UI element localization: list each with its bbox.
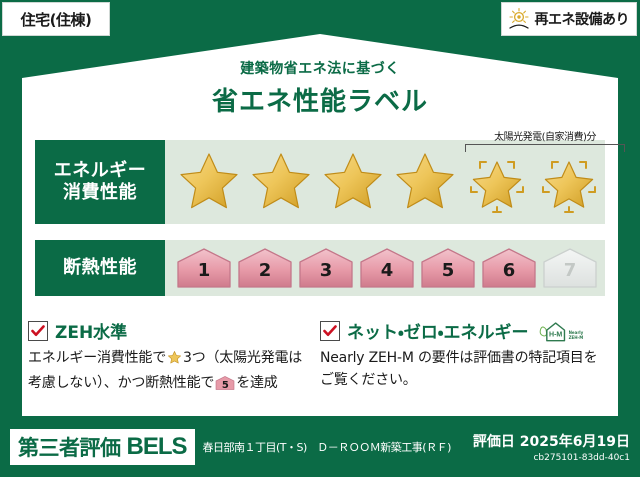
star-icon — [167, 353, 182, 369]
energy-star-solar — [535, 148, 603, 216]
zeh-standard-description: エネルギー消費性能で3つ（太陽光発電は考慮しない）、かつ断熱性能で5を達成 — [28, 348, 314, 394]
energy-star — [319, 148, 387, 216]
building-type-label: 住宅(住棟) — [21, 9, 92, 30]
insulation-grade-badge: 2 — [236, 246, 294, 290]
insulation-grade-badge: 3 — [297, 246, 355, 290]
insulation-grade-badge-inactive: 7 — [541, 246, 599, 290]
energy-star — [247, 148, 315, 216]
inline-badge-number: 5 — [215, 378, 235, 394]
insulation-grade-number: 3 — [297, 260, 355, 281]
insulation-grade-badge: 1 — [175, 246, 233, 290]
zeh-m-caption-line2: ZEH-M — [569, 335, 584, 340]
insulation-label-line1: 断熱性能 — [63, 257, 137, 280]
criteria-zeh-header: ZEH水準 — [28, 318, 314, 343]
net-zero-energy-description: Nearly ZEH-M の要件は評価書の特記項目をご覧ください。 — [320, 348, 606, 391]
energy-performance-row: エネルギー 消費性能 太陽光発電(自家消費)分 — [35, 140, 605, 224]
insulation-grade-badge: 4 — [358, 246, 416, 290]
energy-performance-row-content: 太陽光発電(自家消費)分 — [165, 140, 605, 224]
insulation-grade-scale: 1 2 3 4 — [165, 246, 599, 290]
criteria-net-zero-energy: ネット・ゼロ・エネルギー H-M Nearly ZEH-M Nearly ZEH… — [320, 318, 612, 394]
criteria-section: ZEH水準 エネルギー消費性能で3つ（太陽光発電は考慮しない）、かつ断熱性能で5… — [28, 318, 612, 394]
insulation-grade-badge: 6 — [480, 246, 538, 290]
criteria-zeh-standard: ZEH水準 エネルギー消費性能で3つ（太陽光発電は考慮しない）、かつ断熱性能で5… — [28, 318, 320, 394]
property-name: 春日部南１丁目(T・S) Ｄ－ＲＯＯＭ新築工事(ＲＦ) — [203, 439, 473, 455]
label-title-block: 建築物省エネ法に基づく 省エネ性能ラベル — [0, 58, 640, 118]
label-subtitle: 建築物省エネ法に基づく — [0, 58, 640, 78]
renewable-equipment-tag: 再エネ設備あり — [501, 2, 638, 36]
label-main-title: 省エネ性能ラベル — [0, 81, 640, 118]
net-zero-energy-title: ネット・ゼロ・エネルギー — [347, 318, 529, 343]
solar-annotation-label: 太陽光発電(自家消費)分 — [465, 128, 625, 143]
zeh-desc-part3: を達成 — [236, 375, 277, 391]
energy-label-line1: エネルギー — [54, 160, 147, 183]
zeh-m-logo-caption: Nearly ZEH-M — [569, 331, 584, 342]
net-zero-energy-checkbox[interactable] — [320, 321, 340, 341]
bels-wordmark: BELS — [127, 433, 187, 461]
bels-third-party-label: 第三者評価 — [18, 432, 121, 462]
insulation-grade-number: 2 — [236, 260, 294, 281]
building-type-tag: 住宅(住棟) — [2, 2, 110, 36]
energy-star-solar — [463, 148, 531, 216]
energy-star — [391, 148, 459, 216]
evaluation-date: 評価日 2025年6月19日 — [473, 431, 630, 451]
evaluation-info: 評価日 2025年6月19日 cb275101-83dd-40c1 — [473, 431, 630, 463]
svg-text:H-M: H-M — [549, 331, 562, 338]
insulation-grade-number: 6 — [480, 260, 538, 281]
insulation-performance-row-content: 1 2 3 4 — [165, 240, 605, 296]
insulation-grade-number: 7 — [541, 260, 599, 281]
bels-bottom-bar: 第三者評価 BELS 春日部南１丁目(T・S) Ｄ－ＲＯＯＭ新築工事(ＲＦ) 評… — [0, 417, 640, 477]
solar-annotation: 太陽光発電(自家消費)分 — [465, 128, 625, 152]
sun-renewable-icon — [507, 7, 531, 31]
energy-performance-label: 住宅(住棟) 再エネ設備あり 建築物省エネ法に基づく — [0, 0, 640, 477]
evaluation-date-value: 2025年6月19日 — [520, 434, 630, 450]
evaluation-date-label: 評価日 — [473, 434, 515, 450]
insulation-performance-row-label: 断熱性能 — [35, 240, 165, 296]
energy-performance-row-label: エネルギー 消費性能 — [35, 140, 165, 224]
energy-star-rating — [165, 148, 603, 216]
solar-annotation-bracket — [465, 144, 625, 152]
evaluation-id: cb275101-83dd-40c1 — [473, 453, 630, 463]
renewable-equipment-label: 再エネ設備あり — [535, 9, 630, 29]
energy-star — [175, 148, 243, 216]
zeh-standard-checkbox[interactable] — [28, 321, 48, 341]
insulation-grade-number: 4 — [358, 260, 416, 281]
insulation-grade-badge: 5 — [419, 246, 477, 290]
criteria-nze-header: ネット・ゼロ・エネルギー H-M Nearly ZEH-M — [320, 318, 606, 343]
bels-logo-box: 第三者評価 BELS — [10, 429, 195, 465]
insulation-performance-row: 断熱性能 — [35, 240, 605, 296]
zeh-m-logo-icon: H-M Nearly ZEH-M — [538, 319, 584, 343]
insulation-grade-number: 1 — [175, 260, 233, 281]
insulation-grade-inline-badge: 5 — [215, 375, 235, 391]
energy-label-line2: 消費性能 — [63, 182, 137, 205]
zeh-standard-title: ZEH水準 — [55, 318, 127, 343]
insulation-grade-number: 5 — [419, 260, 477, 281]
zeh-desc-part1: エネルギー消費性能で — [28, 350, 166, 366]
